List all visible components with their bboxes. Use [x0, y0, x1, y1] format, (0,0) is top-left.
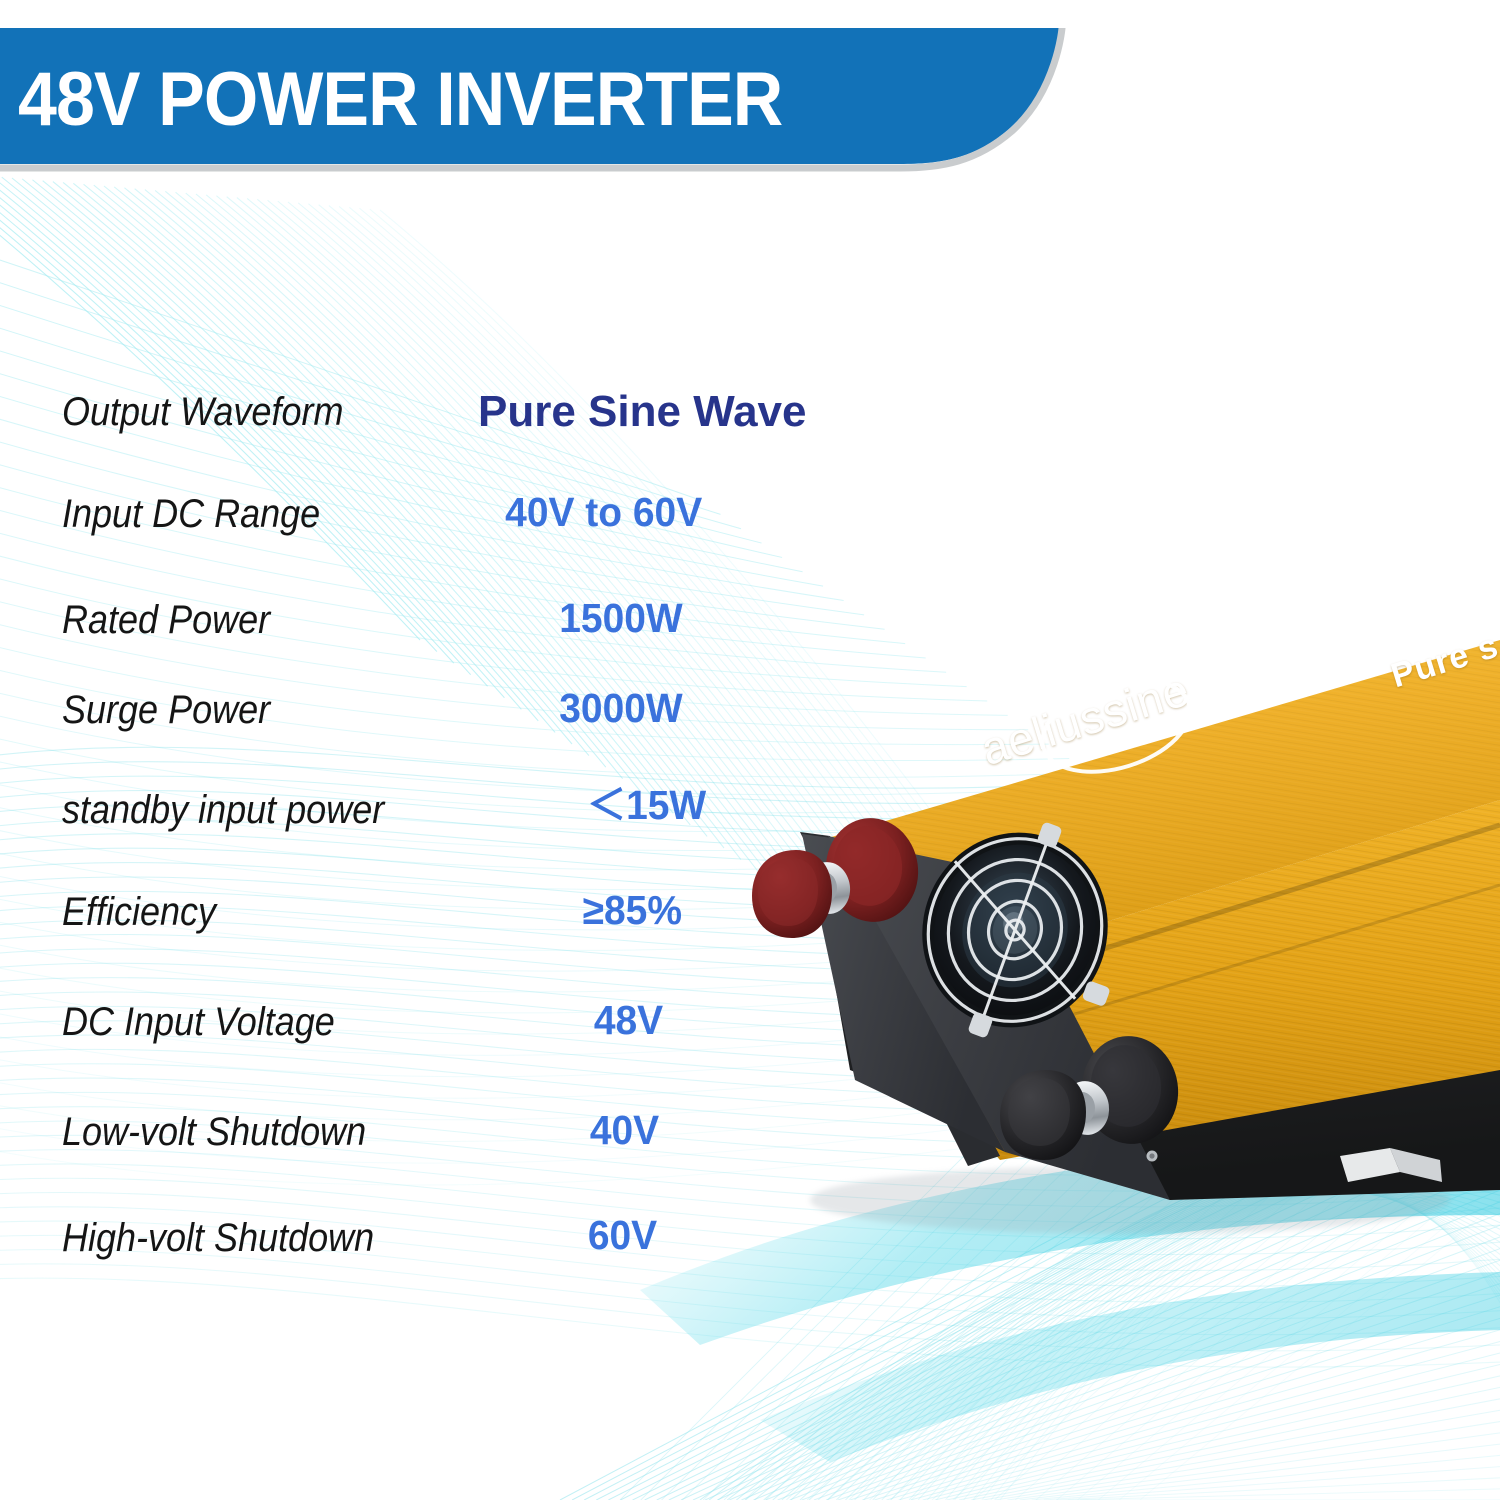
- product-image: aeliussine Pure s: [700, 600, 1500, 1250]
- spec-value: 60V: [588, 1215, 657, 1256]
- spec-value: 1500W: [559, 598, 682, 639]
- spec-label: Efficiency: [62, 892, 216, 932]
- spec-value: ＜15W: [587, 785, 706, 826]
- spec-label: Input DC Range: [62, 494, 320, 534]
- spec-value: 48V: [594, 1000, 663, 1041]
- header-banner: 48V POWER INVERTER: [0, 28, 1140, 173]
- spec-label: standby input power: [62, 790, 384, 830]
- spec-value: 3000W: [559, 688, 682, 729]
- spec-value: Pure Sine Wave: [478, 390, 807, 434]
- spec-label: High-volt Shutdown: [62, 1218, 374, 1258]
- spec-label: DC Input Voltage: [62, 1002, 335, 1042]
- spec-label: Surge Power: [62, 690, 270, 730]
- spec-value: ≥85%: [583, 890, 682, 931]
- infographic-canvas: 48V POWER INVERTER Output WaveformInput …: [0, 0, 1500, 1500]
- spec-value: 40V: [590, 1110, 659, 1151]
- spec-value: 40V to 60V: [505, 492, 702, 533]
- page-title: 48V POWER INVERTER: [18, 62, 782, 138]
- spec-label: Rated Power: [62, 600, 270, 640]
- spec-label: Low-volt Shutdown: [62, 1112, 366, 1152]
- spec-label: Output Waveform: [62, 392, 343, 432]
